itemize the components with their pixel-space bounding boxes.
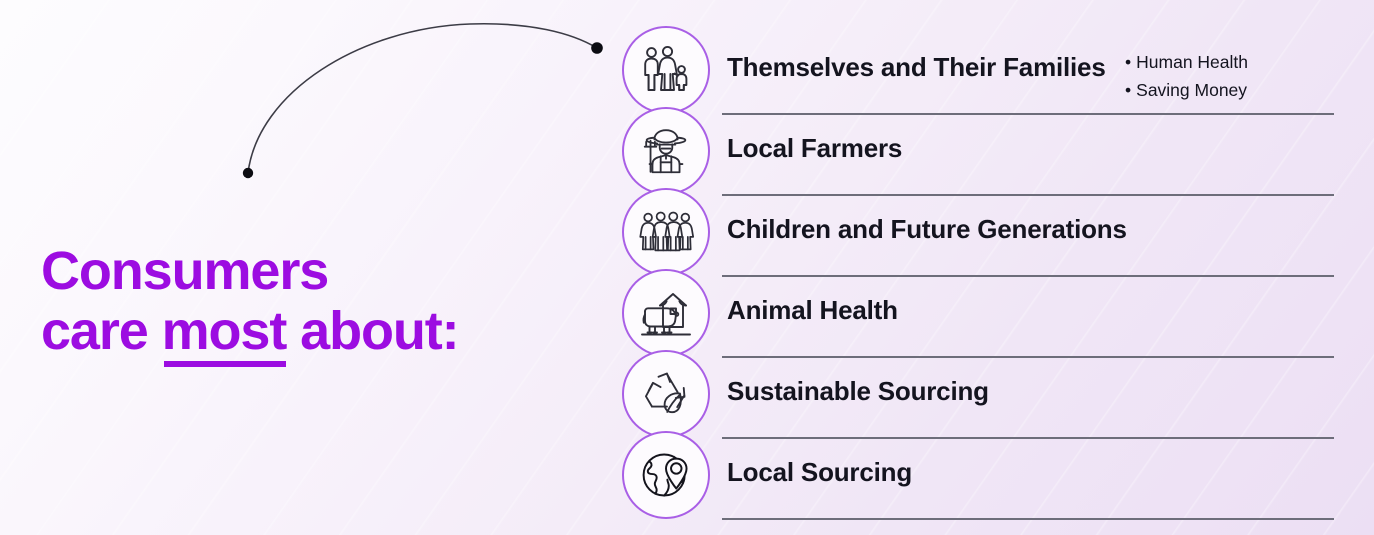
recycle-leaf-icon xyxy=(622,350,710,438)
list-item-label: Local Sourcing xyxy=(727,457,912,488)
list-item[interactable]: Animal Health xyxy=(622,269,1362,350)
list-item-label: Local Farmers xyxy=(727,133,902,164)
headline-line-2-before: care xyxy=(41,301,162,361)
page-title: Consumers care most about: xyxy=(41,190,581,412)
bullet-item: Human Health xyxy=(1125,48,1248,76)
list-item[interactable]: Children and Future Generations xyxy=(622,188,1362,269)
curved-arc-connector xyxy=(0,0,660,200)
bullet-item: Saving Money xyxy=(1125,76,1248,104)
slide-canvas: Consumers care most about: xyxy=(0,0,1374,535)
list-item-bullets: Human Health Saving Money xyxy=(1125,48,1248,105)
priorities-list: Themselves and Their Families Human Heal… xyxy=(622,26,1362,512)
list-item-body: Sustainable Sourcing xyxy=(722,350,1362,431)
farmer-icon xyxy=(622,107,710,195)
family-icon xyxy=(622,26,710,114)
list-item-body: Local Farmers xyxy=(722,107,1362,188)
headline-underlined-word: most xyxy=(162,304,287,358)
list-item-label: Children and Future Generations xyxy=(727,214,1127,245)
list-item-label: Themselves and Their Families xyxy=(727,52,1106,83)
globe-pin-icon xyxy=(622,431,710,519)
row-divider xyxy=(722,518,1334,520)
cow-barn-icon xyxy=(622,269,710,357)
list-item-label: Animal Health xyxy=(727,295,898,326)
list-item[interactable]: Local Sourcing xyxy=(622,431,1362,512)
list-item-body: Themselves and Their Families Human Heal… xyxy=(722,26,1362,107)
list-item[interactable]: Sustainable Sourcing xyxy=(622,350,1362,431)
children-group-icon xyxy=(622,188,710,276)
list-item-body: Animal Health xyxy=(722,269,1362,350)
headline-line-2-after: about: xyxy=(286,301,458,361)
list-item-body: Local Sourcing xyxy=(722,431,1362,512)
headline-line-2: care most about: xyxy=(41,304,581,358)
list-item[interactable]: Local Farmers xyxy=(622,107,1362,188)
headline-line-1: Consumers xyxy=(41,241,328,301)
list-item-body: Children and Future Generations xyxy=(722,188,1362,269)
list-item-label: Sustainable Sourcing xyxy=(727,376,989,407)
list-item[interactable]: Themselves and Their Families Human Heal… xyxy=(622,26,1362,107)
